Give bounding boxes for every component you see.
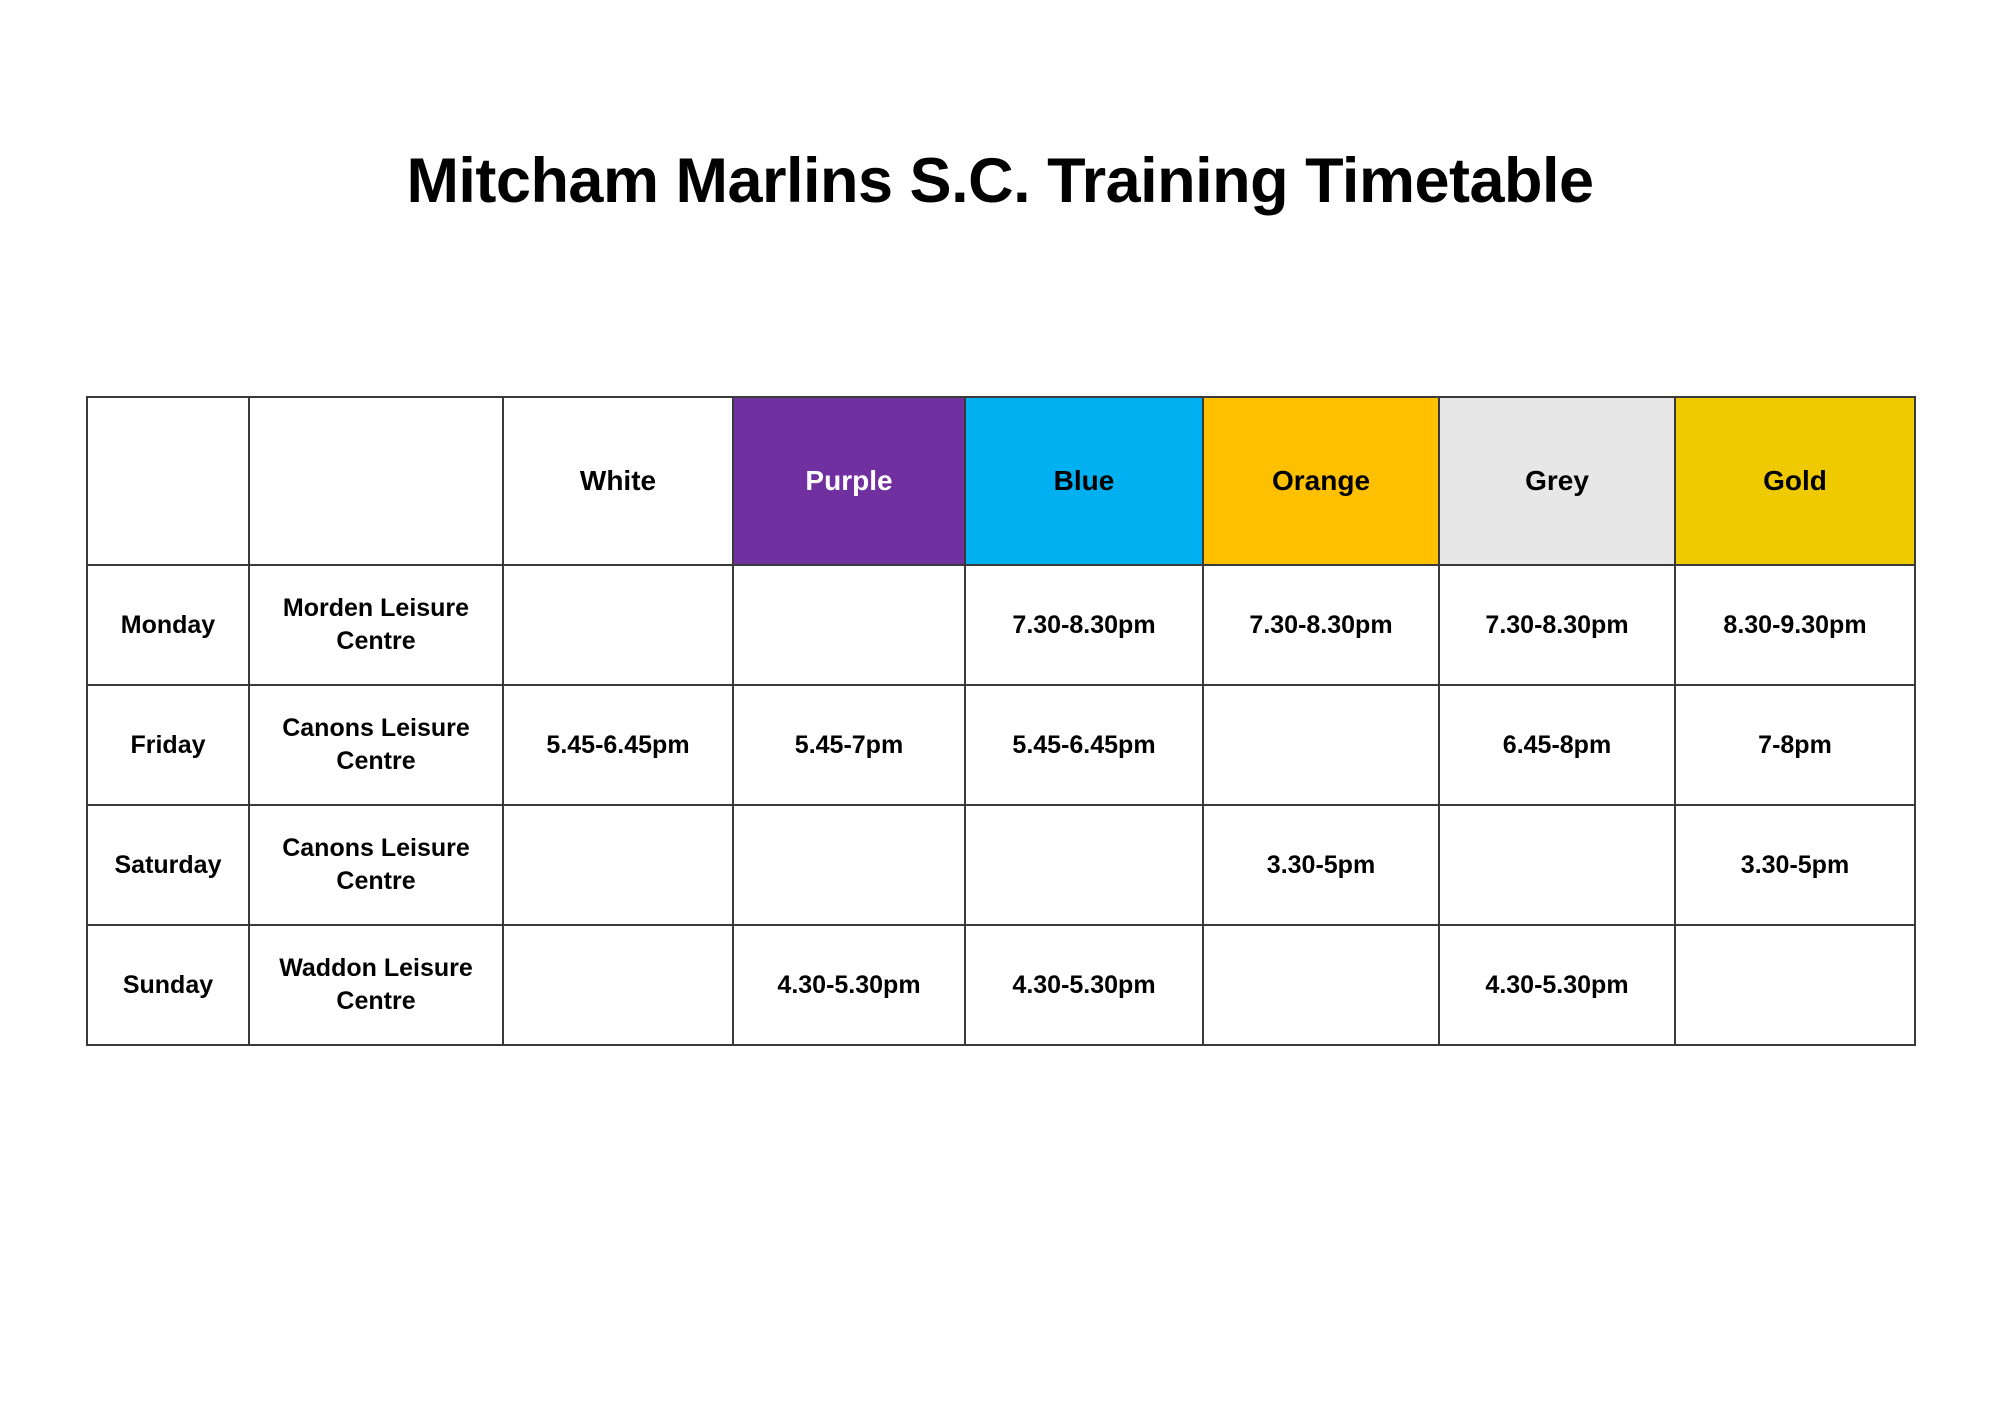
header-squad-orange: Orange xyxy=(1203,397,1439,565)
cell-white xyxy=(503,925,733,1045)
table-row: Monday Morden Leisure Centre 7.30-8.30pm… xyxy=(87,565,1915,685)
table-row: Saturday Canons Leisure Centre 3.30-5pm … xyxy=(87,805,1915,925)
cell-blue: 4.30-5.30pm xyxy=(965,925,1203,1045)
cell-orange: 3.30-5pm xyxy=(1203,805,1439,925)
timetable-body: Monday Morden Leisure Centre 7.30-8.30pm… xyxy=(87,565,1915,1045)
cell-grey: 4.30-5.30pm xyxy=(1439,925,1675,1045)
row-day: Monday xyxy=(87,565,249,685)
table-row: Sunday Waddon Leisure Centre 4.30-5.30pm… xyxy=(87,925,1915,1045)
cell-orange xyxy=(1203,925,1439,1045)
cell-orange xyxy=(1203,685,1439,805)
timetable-header: White Purple Blue Orange Grey Gold xyxy=(87,397,1915,565)
cell-gold: 8.30-9.30pm xyxy=(1675,565,1915,685)
cell-purple: 4.30-5.30pm xyxy=(733,925,965,1045)
cell-orange: 7.30-8.30pm xyxy=(1203,565,1439,685)
cell-white: 5.45-6.45pm xyxy=(503,685,733,805)
cell-purple xyxy=(733,805,965,925)
document-page: Mitcham Marlins S.C. Training Timetable … xyxy=(0,0,2000,1413)
cell-purple: 5.45-7pm xyxy=(733,685,965,805)
row-venue: Waddon Leisure Centre xyxy=(249,925,503,1045)
cell-gold: 7-8pm xyxy=(1675,685,1915,805)
row-venue: Canons Leisure Centre xyxy=(249,805,503,925)
cell-white xyxy=(503,805,733,925)
page-title: Mitcham Marlins S.C. Training Timetable xyxy=(0,148,2000,214)
row-day: Friday xyxy=(87,685,249,805)
cell-blue: 5.45-6.45pm xyxy=(965,685,1203,805)
header-squad-blue: Blue xyxy=(965,397,1203,565)
row-day: Saturday xyxy=(87,805,249,925)
row-venue: Morden Leisure Centre xyxy=(249,565,503,685)
timetable-table: White Purple Blue Orange Grey Gold Monda… xyxy=(86,396,1916,1046)
header-blank-day xyxy=(87,397,249,565)
cell-gold: 3.30-5pm xyxy=(1675,805,1915,925)
cell-grey: 6.45-8pm xyxy=(1439,685,1675,805)
header-squad-gold: Gold xyxy=(1675,397,1915,565)
header-row: White Purple Blue Orange Grey Gold xyxy=(87,397,1915,565)
header-squad-grey: Grey xyxy=(1439,397,1675,565)
row-venue: Canons Leisure Centre xyxy=(249,685,503,805)
cell-blue: 7.30-8.30pm xyxy=(965,565,1203,685)
training-timetable: White Purple Blue Orange Grey Gold Monda… xyxy=(86,396,1914,1046)
cell-purple xyxy=(733,565,965,685)
cell-blue xyxy=(965,805,1203,925)
table-row: Friday Canons Leisure Centre 5.45-6.45pm… xyxy=(87,685,1915,805)
cell-grey: 7.30-8.30pm xyxy=(1439,565,1675,685)
cell-grey xyxy=(1439,805,1675,925)
header-squad-purple: Purple xyxy=(733,397,965,565)
header-blank-venue xyxy=(249,397,503,565)
row-day: Sunday xyxy=(87,925,249,1045)
header-squad-white: White xyxy=(503,397,733,565)
cell-white xyxy=(503,565,733,685)
cell-gold xyxy=(1675,925,1915,1045)
